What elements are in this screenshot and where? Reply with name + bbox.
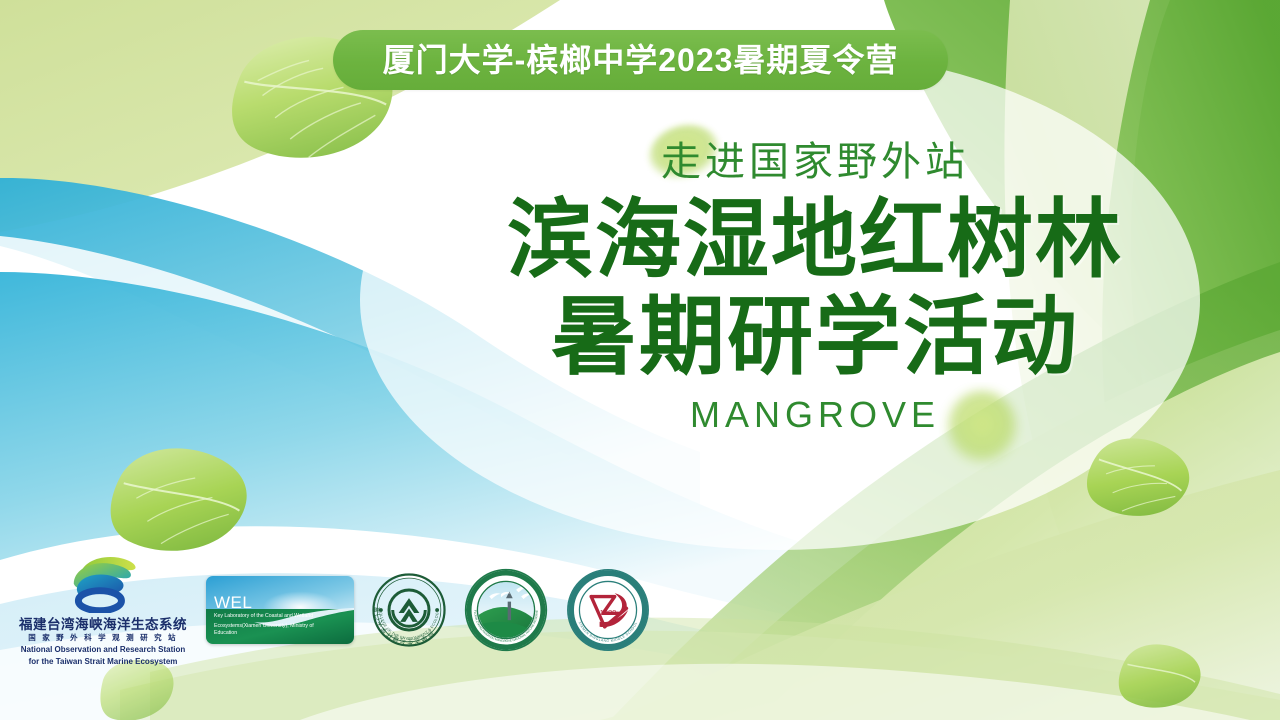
wel-abbr: WEL [214, 594, 334, 611]
poster-title-line-2: 暑期研学活动 [470, 287, 1160, 388]
binglang-year: 1980 [600, 608, 617, 617]
logo-nors-cn-name: 福建台湾海峡海洋生态系统 [19, 617, 187, 633]
wel-en-line2: Ecosystems(Xiamen University), Ministry … [214, 623, 334, 638]
logo-national-observation-station: 福建台湾海峡海洋生态系统 国 家 野 外 科 学 观 测 研 究 站 Natio… [18, 553, 188, 667]
title-block: 走进国家野外站 滨海湿地红树林 暑期研学活动 MANGROVE [470, 140, 1160, 436]
logo-strip: 福建台湾海峡海洋生态系统 国 家 野 外 科 学 观 测 研 究 站 Natio… [18, 545, 650, 675]
poster-canvas: 厦门大学-槟榔中学2023暑期夏令营 走进国家野外站 滨海湿地红树林 暑期研学活… [0, 0, 1280, 720]
wel-en-line1: Key Laboratory of the Coastal and Wetlan… [214, 613, 334, 621]
logo-xmu-college-environment-ecology: 院学态生与境环学大门厦 COLLEGE OF THE ENVIRONMENT &… [372, 573, 446, 647]
header-banner: 厦门大学-槟榔中学2023暑期夏令营 [333, 30, 948, 90]
zhangjiangkou-reserve-seal-icon: 区护保然自级家国林树红口江漳建福 FUJIAN ZHANGJIANGKOU MA… [464, 568, 548, 652]
logo-xiamen-binglang-middle-school: 1980 学中榔槟市门厦 XIAMEN BINGLANG MIDDLE SCHO… [566, 568, 650, 652]
binglang-school-seal-icon: 1980 学中榔槟市门厦 XIAMEN BINGLANG MIDDLE SCHO… [566, 568, 650, 652]
logo-wel-key-laboratory: WEL Key Laboratory of the Coastal and We… [206, 576, 354, 644]
station-mark-icon [64, 553, 142, 613]
wel-text-block: WEL Key Laboratory of the Coastal and We… [214, 594, 334, 638]
logo-zhangjiangkou-mangrove-reserve: 区护保然自级家国林树红口江漳建福 FUJIAN ZHANGJIANGKOU MA… [464, 568, 548, 652]
poster-title-line-1: 滨海湿地红树林 [470, 190, 1160, 291]
poster-subtitle: 走进国家野外站 [470, 140, 1160, 184]
logo-nors-en-line2: for the Taiwan Strait Marine Ecosystem [29, 657, 178, 667]
logo-nors-cn-sub: 国 家 野 外 科 学 观 测 研 究 站 [28, 633, 178, 643]
logo-nors-en-line1: National Observation and Research Statio… [21, 645, 185, 655]
header-banner-text: 厦门大学-槟榔中学2023暑期夏令营 [383, 44, 899, 76]
xmu-college-seal-icon: 院学态生与境环学大门厦 COLLEGE OF THE ENVIRONMENT &… [372, 573, 446, 647]
poster-english-title: MANGROVE [470, 393, 1160, 436]
